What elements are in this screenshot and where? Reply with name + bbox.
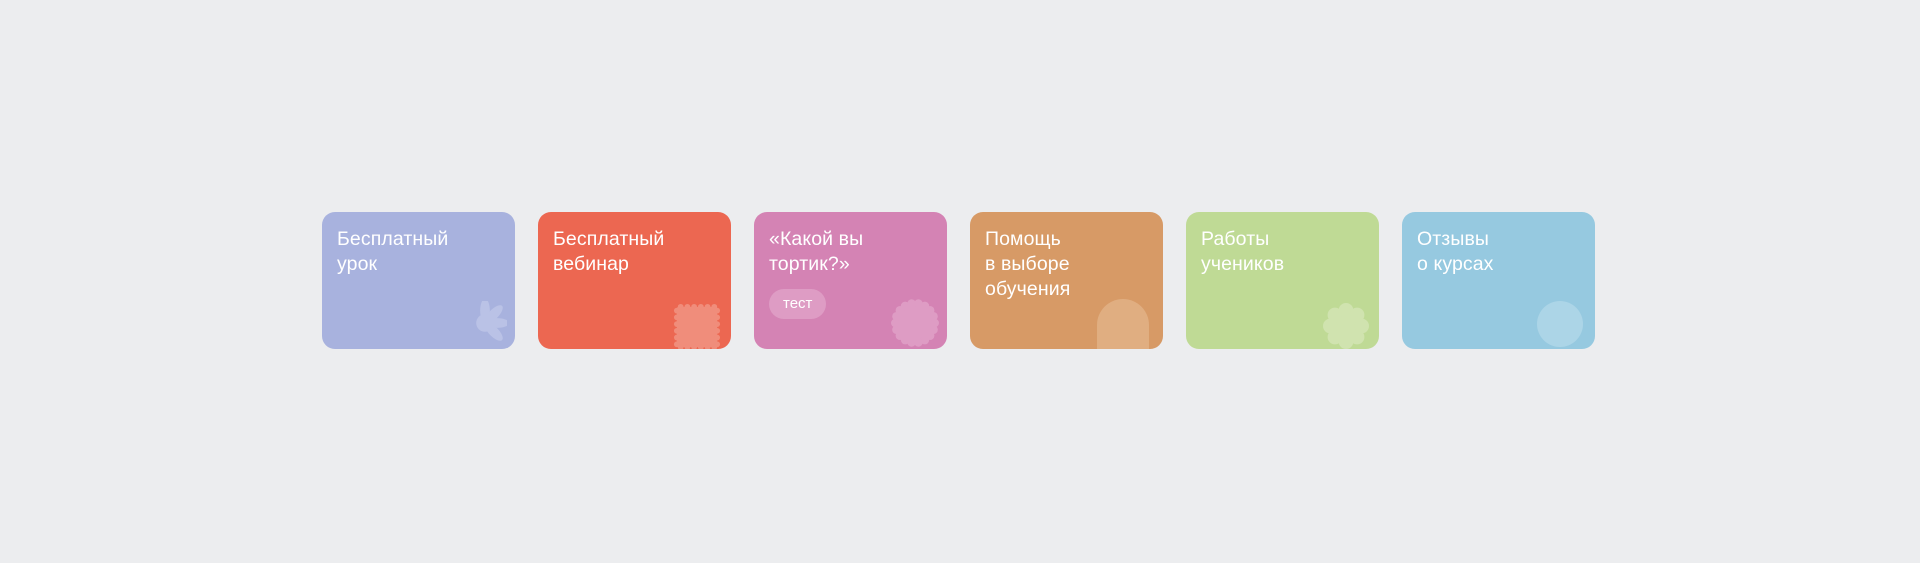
rosette-shape-icon xyxy=(891,299,939,347)
promo-card-cake-quiz[interactable]: «Какой вы тортик?» тест xyxy=(754,212,947,349)
promo-card-title: Отзывы о курсах xyxy=(1417,227,1579,277)
promo-card-student-works[interactable]: Работы учеников xyxy=(1186,212,1379,349)
arch-shape-icon xyxy=(1097,299,1149,349)
promo-card-course-reviews[interactable]: Отзывы о курсах xyxy=(1402,212,1595,349)
promo-card-title: Бесплатный вебинар xyxy=(553,227,715,277)
promo-card-title: Помощь в выборе обучения xyxy=(985,227,1147,302)
promo-card-row: Бесплатный урок xyxy=(322,212,1595,349)
stamp-square-shape-icon xyxy=(673,303,721,349)
promo-card-title: Бесплатный урок xyxy=(337,227,499,277)
promo-card-study-help[interactable]: Помощь в выборе обучения xyxy=(970,212,1163,349)
promo-card-title: «Какой вы тортик?» xyxy=(769,227,931,277)
blob-shape-icon xyxy=(1323,303,1369,349)
promo-card-badge[interactable]: тест xyxy=(769,289,826,319)
promo-card-title: Работы учеников xyxy=(1201,227,1363,277)
flower-shape-icon xyxy=(463,301,507,345)
promo-card-free-webinar[interactable]: Бесплатный вебинар xyxy=(538,212,731,349)
circle-shape-icon xyxy=(1537,301,1583,347)
promo-card-free-lesson[interactable]: Бесплатный урок xyxy=(322,212,515,349)
